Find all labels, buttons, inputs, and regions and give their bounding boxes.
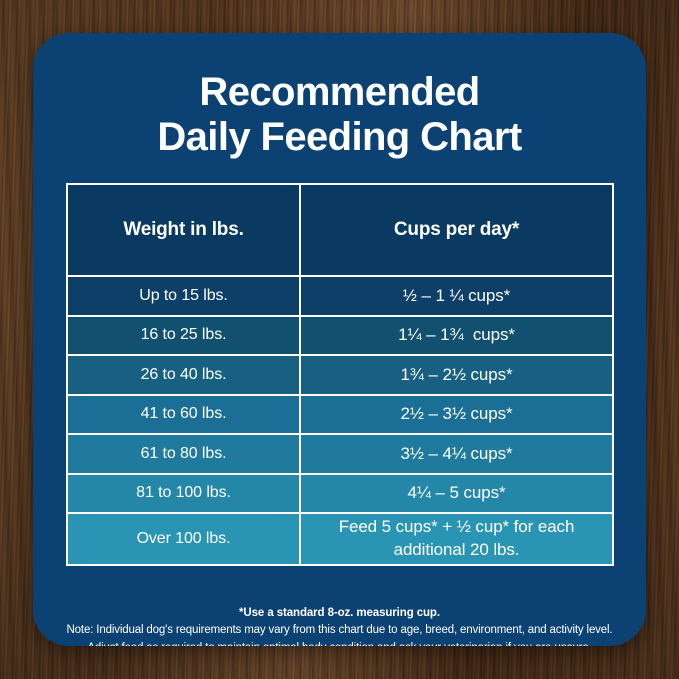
footnote-note-line-1: Note: Individual dog's requirements may … [57, 622, 622, 639]
cell-weight: 81 to 100 lbs. [67, 474, 300, 514]
cell-cups: ½ – 1 ¼ cups* [300, 276, 613, 316]
cell-weight: 26 to 40 lbs. [67, 355, 300, 395]
table-row: Over 100 lbs. Feed 5 cups* + ½ cup* for … [67, 513, 613, 565]
cell-cups: 4¼ – 5 cups* [300, 474, 613, 514]
title-line-2: Daily Feeding Chart [63, 115, 616, 160]
table-row: 16 to 25 lbs. 1¼ – 1¾ cups* [67, 316, 613, 356]
table-header-row: Weight in lbs. Cups per day* [67, 184, 613, 276]
feeding-chart-card: Recommended Daily Feeding Chart Weight i… [33, 33, 646, 646]
footnote-note-line-2: Adjust food as required to maintain opti… [57, 640, 622, 646]
footnotes: *Use a standard 8-oz. measuring cup. Not… [57, 605, 622, 646]
column-header-weight: Weight in lbs. [67, 184, 300, 276]
table-row: 41 to 60 lbs. 2½ – 3½ cups* [67, 395, 613, 435]
footnote-measuring-cup: *Use a standard 8-oz. measuring cup. [57, 605, 622, 622]
cell-cups: 1¾ – 2½ cups* [300, 355, 613, 395]
table-row: Up to 15 lbs. ½ – 1 ¼ cups* [67, 276, 613, 316]
table-row: 26 to 40 lbs. 1¾ – 2½ cups* [67, 355, 613, 395]
cell-weight: 61 to 80 lbs. [67, 434, 300, 474]
cell-weight: Over 100 lbs. [67, 513, 300, 565]
cell-weight: 16 to 25 lbs. [67, 316, 300, 356]
table-row: 81 to 100 lbs. 4¼ – 5 cups* [67, 474, 613, 514]
cell-weight: Up to 15 lbs. [67, 276, 300, 316]
column-header-cups: Cups per day* [300, 184, 613, 276]
page-title: Recommended Daily Feeding Chart [33, 33, 646, 160]
feeding-table: Weight in lbs. Cups per day* Up to 15 lb… [66, 183, 614, 566]
cell-cups: 2½ – 3½ cups* [300, 395, 613, 435]
table-row: 61 to 80 lbs. 3½ – 4¼ cups* [67, 434, 613, 474]
cell-weight: 41 to 60 lbs. [67, 395, 300, 435]
cell-cups: 1¼ – 1¾ cups* [300, 316, 613, 356]
cell-cups: Feed 5 cups* + ½ cup* for each additiona… [300, 513, 613, 565]
cell-cups: 3½ – 4¼ cups* [300, 434, 613, 474]
title-line-1: Recommended [63, 70, 616, 115]
